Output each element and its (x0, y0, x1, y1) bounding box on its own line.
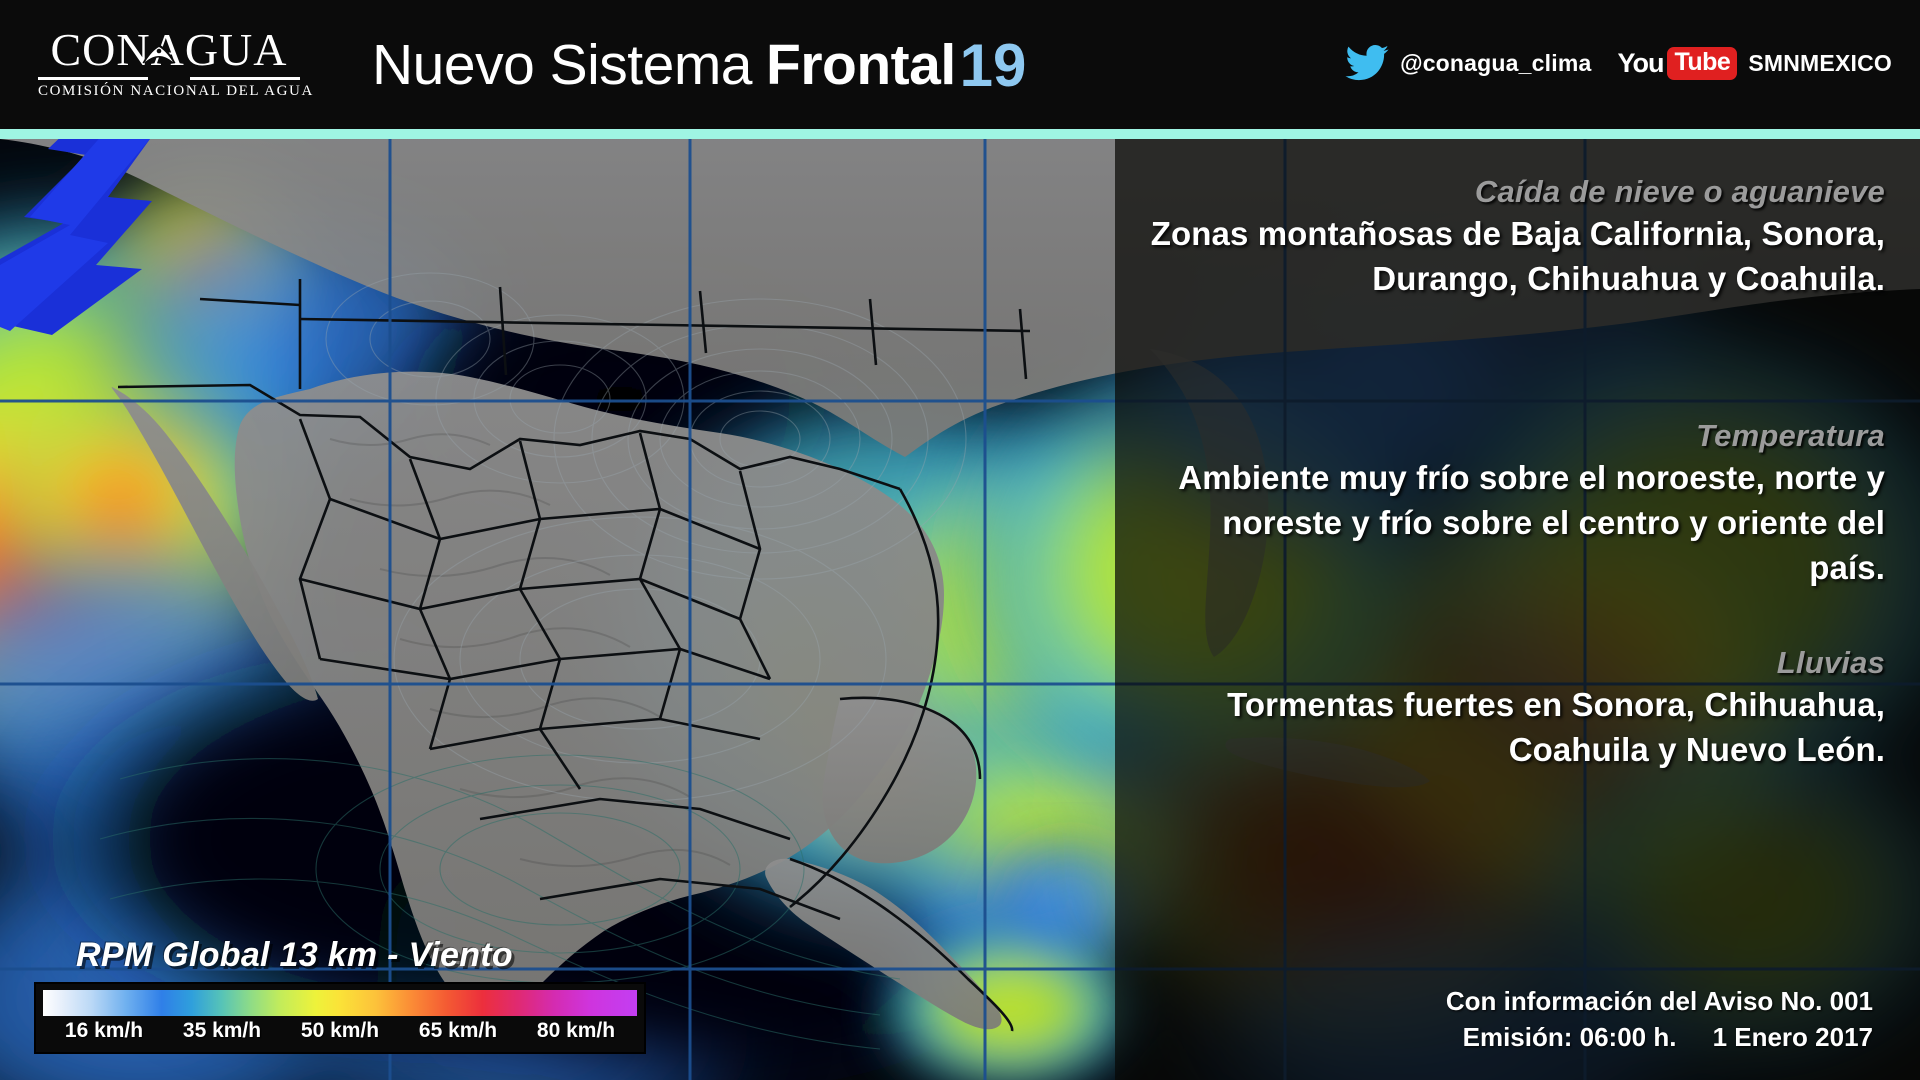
advisory-issue-time: Emisión: 06:00 h. 1 Enero 2017 (1446, 1019, 1873, 1055)
info-heading-snow: Caída de nieve o aguanieve (1150, 173, 1885, 211)
page-title: Nuevo Sistema Frontal 19 (372, 25, 1026, 105)
legend-tick-3: 65 km/h (399, 1019, 517, 1043)
legend-tick-2: 50 km/h (281, 1019, 399, 1043)
logo-divider (38, 77, 300, 80)
info-heading-temperature: Temperatura (1150, 417, 1885, 455)
youtube-channel: SMNMEXICO (1748, 50, 1892, 77)
title-number: 19 (960, 31, 1027, 100)
title-bold-part: Frontal (766, 32, 956, 98)
logo-subtitle: COMISIÓN NACIONAL DEL AGUA (38, 83, 300, 100)
legend-tick-0: 16 km/h (45, 1019, 163, 1043)
legend-tick-4: 80 km/h (517, 1019, 635, 1043)
twitter-bird-icon (1345, 45, 1389, 81)
legend-tick-1: 35 km/h (163, 1019, 281, 1043)
youtube-link[interactable]: You Tube SMNMEXICO (1617, 47, 1892, 80)
legend-colorbar (43, 990, 637, 1016)
social-links: @conagua_clima You Tube SMNMEXICO (1345, 34, 1892, 92)
info-block-snow: Caída de nieve o aguanieve Zonas montaño… (1150, 173, 1885, 301)
conagua-logo: CONAGUA COMISIÓN NACIONAL DEL AGUA (38, 26, 300, 101)
youtube-word-you: You (1617, 48, 1663, 79)
info-heading-rain: Lluvias (1150, 644, 1885, 682)
youtube-logo-icon: You Tube (1617, 47, 1737, 80)
advisory-number: Con información del Aviso No. 001 (1446, 983, 1873, 1019)
info-body-temperature: Ambiente muy frío sobre el noroeste, nor… (1150, 455, 1885, 590)
info-block-rain: Lluvias Tormentas fuertes en Sonora, Chi… (1150, 644, 1885, 772)
info-body-snow: Zonas montañosas de Baja California, Son… (1150, 211, 1885, 301)
accent-divider (0, 129, 1920, 139)
youtube-word-tube: Tube (1667, 47, 1737, 80)
twitter-link[interactable]: @conagua_clima (1345, 45, 1591, 81)
model-label: RPM Global 13 km - Viento (76, 936, 513, 975)
info-block-temperature: Temperatura Ambiente muy frío sobre el n… (1150, 417, 1885, 590)
title-light-part: Nuevo Sistema (372, 32, 752, 98)
wind-speed-legend: 16 km/h 35 km/h 50 km/h 65 km/h 80 km/h (34, 982, 646, 1054)
legend-tick-labels: 16 km/h 35 km/h 50 km/h 65 km/h 80 km/h (43, 1019, 637, 1043)
twitter-handle: @conagua_clima (1400, 50, 1591, 77)
advisory-footer: Con información del Aviso No. 001 Emisió… (1446, 983, 1873, 1055)
forecast-info-panel: Caída de nieve o aguanieve Zonas montaño… (1150, 139, 1885, 1080)
info-body-rain: Tormentas fuertes en Sonora, Chihuahua, … (1150, 682, 1885, 772)
header-bar: CONAGUA COMISIÓN NACIONAL DEL AGUA Nuevo… (0, 0, 1920, 129)
eagle-glyph-icon (141, 42, 177, 68)
